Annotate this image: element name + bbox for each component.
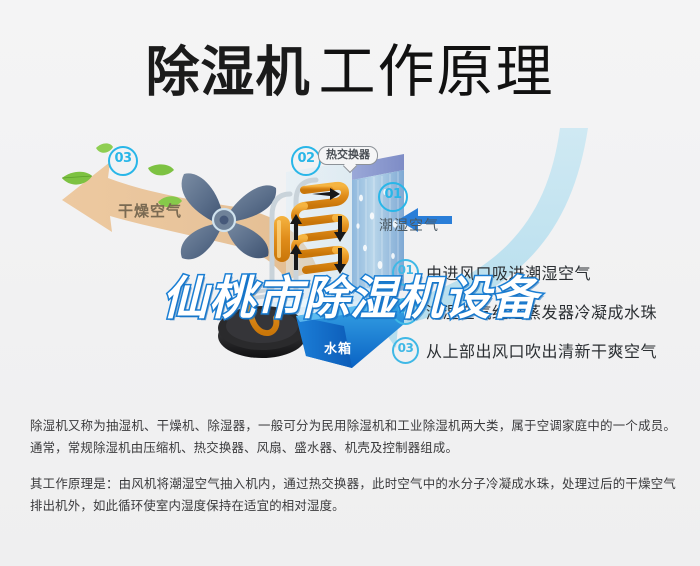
page-title-bold: 除湿机 [146,41,311,104]
legend-text-03: 从上部出风口吹出清新干爽空气 [426,338,657,362]
watermark: 仙桃市除湿机设备 [0,262,700,328]
callout-heat-exchanger: 热交换器 [318,146,378,165]
description-paragraph-2: 其工作原理是：由风机将潮湿空气抽入机内，通过热交换器，此时空气中的水分子冷凝成水… [30,473,676,517]
label-dry-air: 干燥空气 [118,200,182,221]
receiver-cylinder [274,216,290,262]
legend-number-03: 03 [392,337,419,364]
legend-item-03: 03 从上部出风口吹出清新干爽空气 [392,333,692,367]
description-paragraph-1: 除湿机又称为抽湿机、干燥机、除湿器，一般可分为民用除湿机和工业除湿机两大类，属于… [30,415,676,459]
watermark-text: 仙桃市除湿机设备 [162,262,538,328]
page-root: 除湿机工作原理 [0,0,700,566]
description-block: 除湿机又称为抽湿机、干燥机、除湿器，一般可分为民用除湿机和工业除湿机两大类，属于… [30,415,676,517]
page-title: 除湿机工作原理 [0,26,700,108]
label-humid-air: 潮湿空气 [379,215,439,235]
badge-03-dry-air: 03 [108,146,138,176]
badge-02-heat-exchanger: 02 [291,146,321,176]
label-water-tank: 水箱 [324,338,352,357]
page-title-light: 工作原理 [319,39,555,105]
badge-01-humid-air: 01 [378,182,408,212]
